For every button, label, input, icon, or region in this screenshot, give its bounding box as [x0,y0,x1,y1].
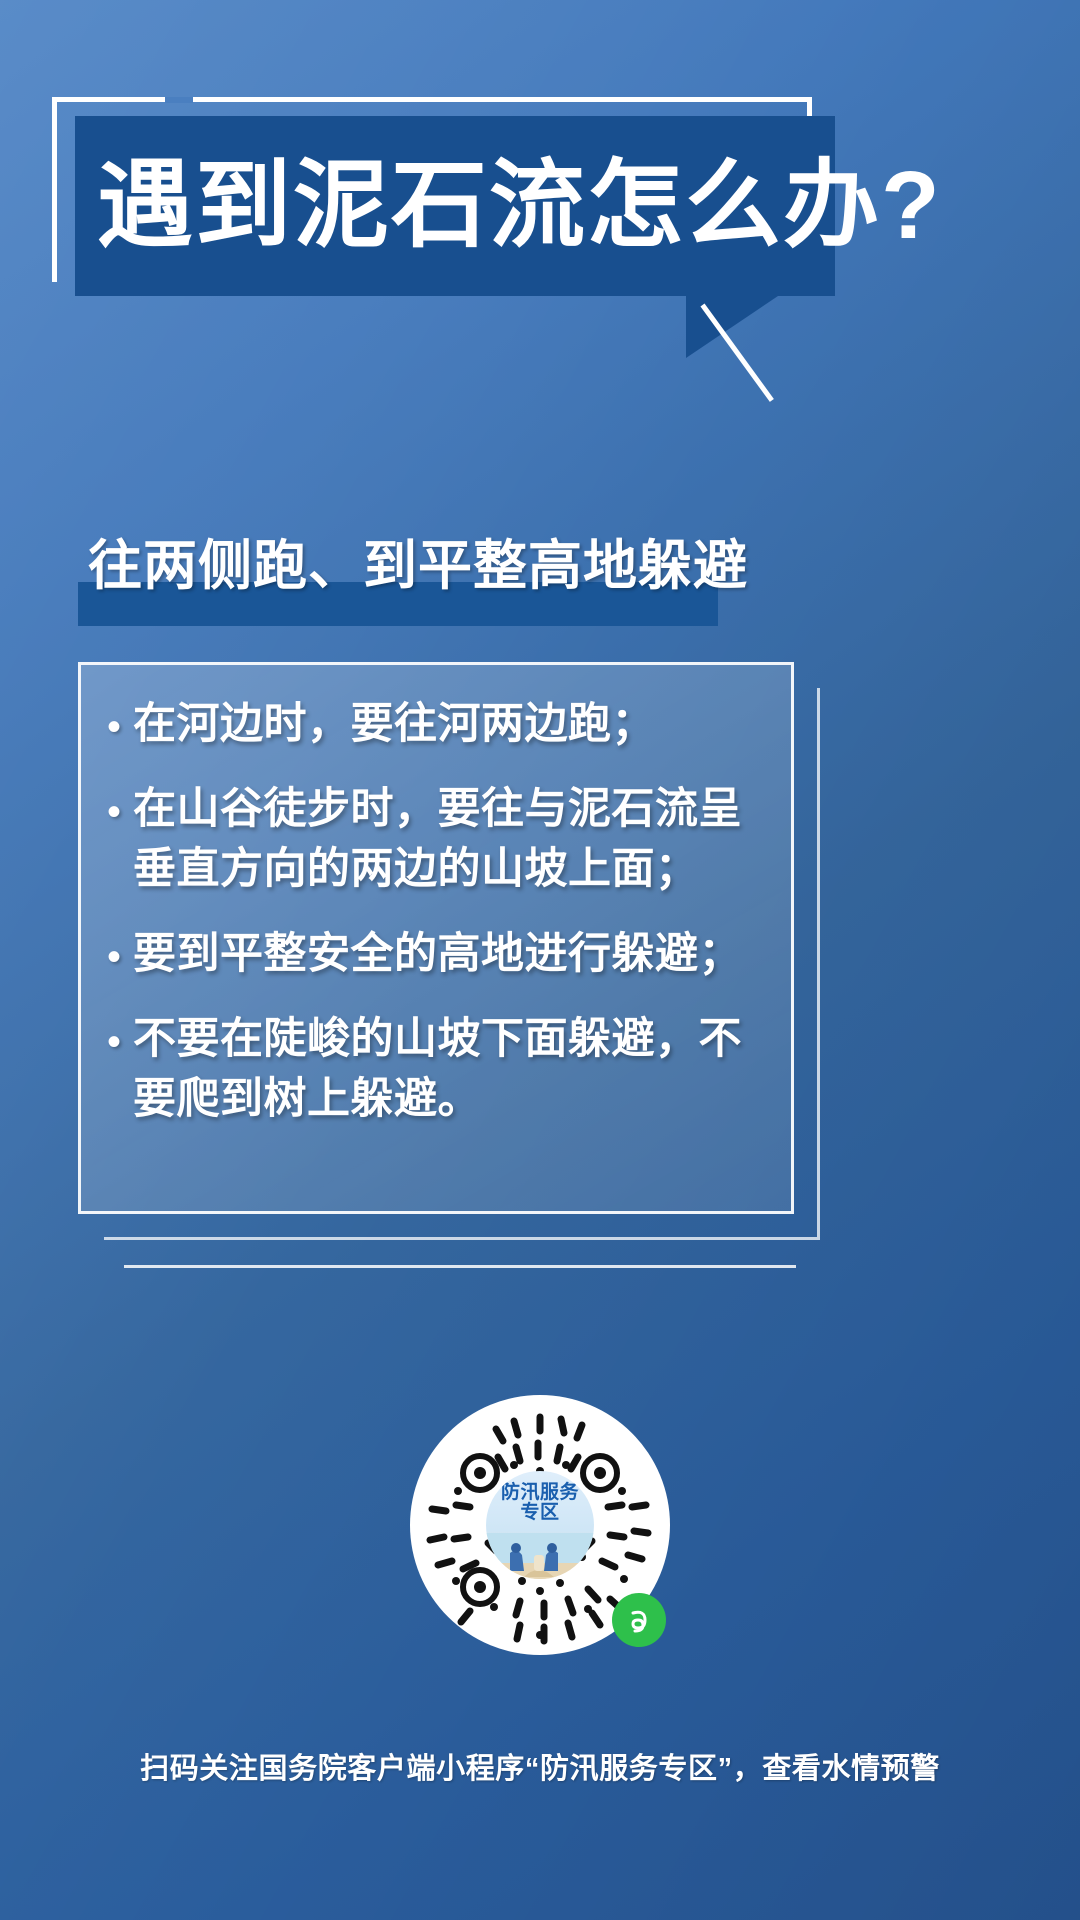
list-item: • 在山谷徒步时，要往与泥石流呈垂直方向的两边的山坡上面； [107,780,765,899]
wechat-miniprogram-icon[interactable] [612,1593,666,1647]
qr-logo-line1: 防汛服务 [501,1483,579,1503]
qr-section: 防汛服务 专区 [325,1395,755,1665]
list-item-text: 在山谷徒步时，要往与泥石流呈垂直方向的两边的山坡上面； [133,780,765,899]
title-banner: 遇到泥石流怎么办? [75,116,835,296]
list-item: • 在河边时，要往河两边跑； [107,695,765,754]
list-item-text: 要到平整安全的高地进行躲避； [133,925,742,984]
miniprogram-glyph-icon [622,1603,656,1637]
subtitle-section: 往两侧跑、到平整高地躲避 [78,538,748,624]
poster-root: 遇到泥石流怎么办? 往两侧跑、到平整高地躲避 • 在河边时，要往河两边跑； • … [0,0,1080,1920]
bullet-dot-icon: • [107,1022,121,1062]
list-item-text: 在河边时，要往河两边跑； [133,695,655,754]
list-item-text: 不要在陡峻的山坡下面躲避，不要爬到树上躲避。 [133,1010,765,1129]
qr-center-logo: 防汛服务 专区 [486,1471,594,1579]
list-item: • 要到平整安全的高地进行躲避； [107,925,765,984]
subtitle: 往两侧跑、到平整高地躲避 [78,538,748,595]
page-title: 遇到泥石流怎么办? [97,158,942,254]
qr-caption: 扫码关注国务院客户端小程序“防汛服务专区”，查看水情预警 [0,1745,1080,1787]
flood-rescue-illustration-icon [486,1533,594,1579]
advice-list-box: • 在河边时，要往河两边跑； • 在山谷徒步时，要往与泥石流呈垂直方向的两边的山… [78,662,794,1214]
bullet-dot-icon: • [107,937,121,977]
bullet-dot-icon: • [107,707,121,747]
list-item: • 不要在陡峻的山坡下面躲避，不要爬到树上躲避。 [107,1010,765,1129]
qr-logo-line2: 专区 [520,1503,559,1523]
circular-qr-code-icon[interactable]: 防汛服务 专区 [410,1395,670,1655]
bullet-dot-icon: • [107,792,121,832]
title-frame-left-stub [52,272,57,282]
title-section: 遇到泥石流怎么办? [0,0,1080,430]
horizontal-divider [124,1265,796,1268]
